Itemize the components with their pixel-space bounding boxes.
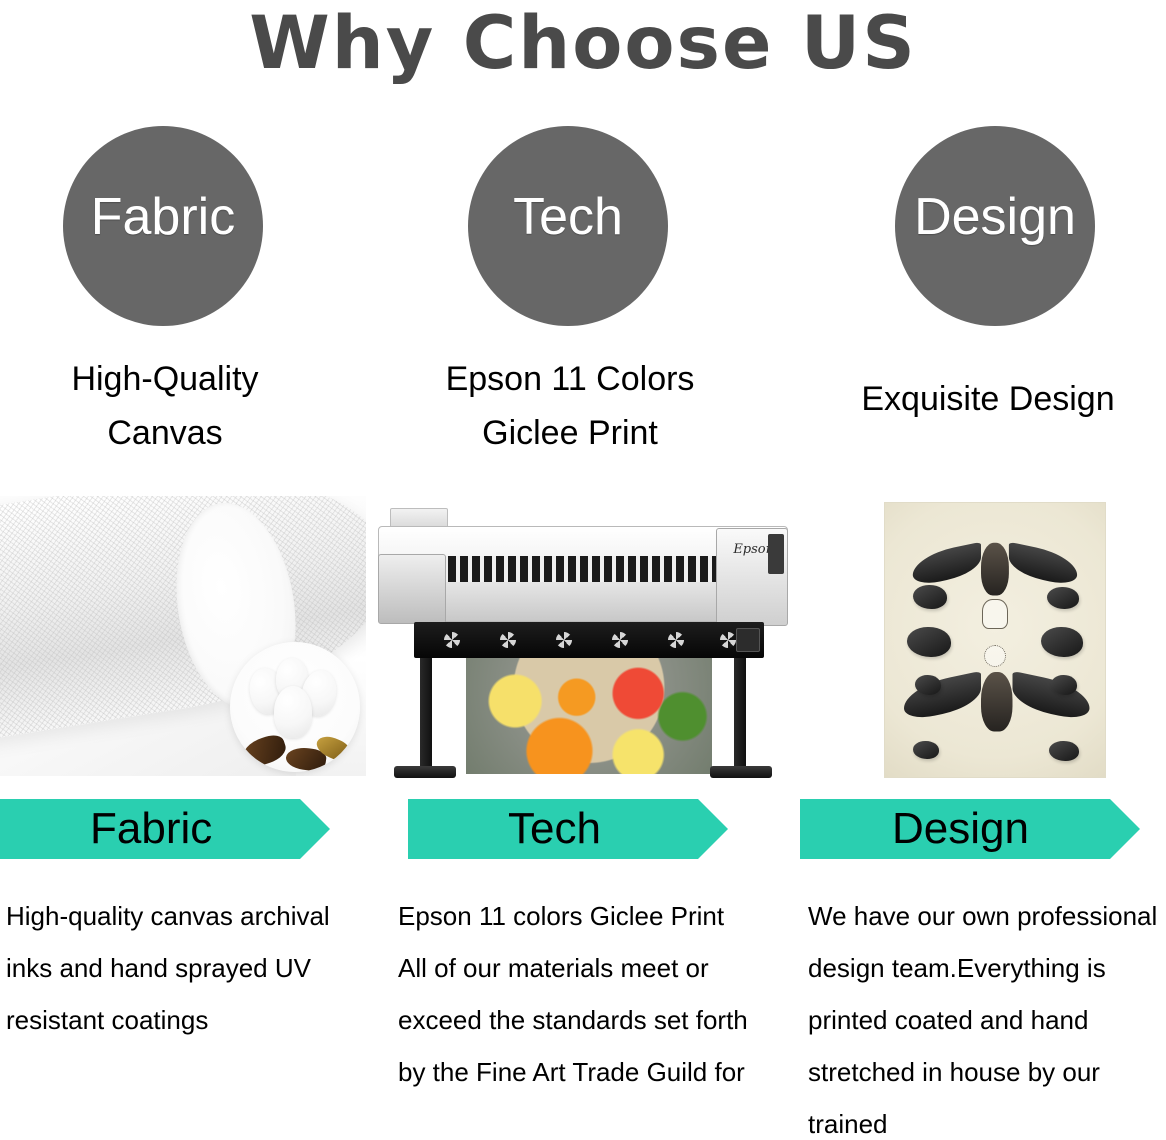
art-print-scene	[884, 502, 1106, 778]
epson-printer-photo: Epson	[378, 498, 788, 782]
paragraph-design: We have our own professional design team…	[808, 890, 1164, 1140]
printer-leg	[420, 658, 432, 770]
caption-tech-line2: Giclee Print	[400, 406, 740, 460]
printer-foot	[394, 766, 456, 778]
why-choose-us-infographic: Why Choose US Fabric Tech Design High-Qu…	[0, 0, 1166, 1140]
caption-tech: Epson 11 Colors Giclee Print	[400, 352, 740, 460]
bat-art-print-photo	[884, 502, 1106, 778]
printer-fan-icon	[668, 632, 684, 648]
bat-wing	[913, 542, 981, 587]
bat-head-study	[907, 627, 951, 657]
printer-left-cap	[378, 554, 446, 624]
bat-body	[981, 543, 1009, 596]
cotton-boll	[274, 686, 312, 738]
printer-leg	[734, 658, 746, 770]
caption-tech-line1: Epson 11 Colors	[400, 352, 740, 406]
bat-head-study	[913, 741, 939, 759]
bat-head-study	[1041, 627, 1083, 657]
bat-head-study	[1051, 675, 1077, 695]
bat-head-study	[915, 675, 941, 695]
printer-fan-icon	[556, 632, 572, 648]
bat-head-study	[1047, 587, 1079, 609]
bat-anatomy-sketch	[982, 599, 1008, 629]
caption-fabric-line1: High-Quality	[0, 352, 330, 406]
badge-tech: Tech	[468, 126, 668, 326]
badge-design: Design	[895, 126, 1095, 326]
printer-fan-icon	[612, 632, 628, 648]
printer-media-slot	[436, 556, 736, 582]
printer-side-control	[736, 628, 760, 652]
bat-wing	[1009, 542, 1077, 587]
badge-label-tech: Tech	[428, 186, 708, 248]
badge-fabric: Fabric	[63, 126, 263, 326]
printer-foot	[710, 766, 772, 778]
badge-label-fabric: Fabric	[23, 186, 303, 248]
printer-fan-icon	[500, 632, 516, 648]
caption-design-line1: Exquisite Design	[810, 372, 1166, 426]
canvas-scene	[0, 496, 366, 776]
printer-scene: Epson	[378, 498, 788, 782]
caption-fabric: High-Quality Canvas	[0, 352, 330, 460]
printer-fan-icon	[720, 632, 736, 648]
bat-wing	[904, 671, 981, 722]
canvas-roll-photo	[0, 496, 366, 776]
printer-fan-icon	[444, 632, 460, 648]
caption-design: Exquisite Design	[810, 372, 1166, 426]
paragraph-tech: Epson 11 colors Giclee Print All of our …	[398, 890, 758, 1098]
banner-label-tech: Tech	[508, 795, 601, 863]
printer-control-panel	[768, 534, 784, 574]
caption-fabric-line2: Canvas	[0, 406, 330, 460]
badge-label-design: Design	[855, 186, 1135, 248]
bat-body	[981, 672, 1013, 732]
bat-head-study	[913, 585, 947, 609]
bat-anatomy-sketch	[984, 645, 1006, 667]
banner-label-fabric: Fabric	[90, 795, 212, 863]
badge-row: Fabric Tech Design	[0, 0, 1166, 340]
bat-wing	[1013, 671, 1090, 722]
bat-head-study	[1049, 741, 1079, 761]
paragraph-fabric: High-quality canvas archival inks and ha…	[6, 890, 356, 1046]
printer-front-bar	[414, 622, 764, 658]
banner-label-design: Design	[892, 795, 1029, 863]
cotton-boll-inset	[230, 642, 360, 772]
